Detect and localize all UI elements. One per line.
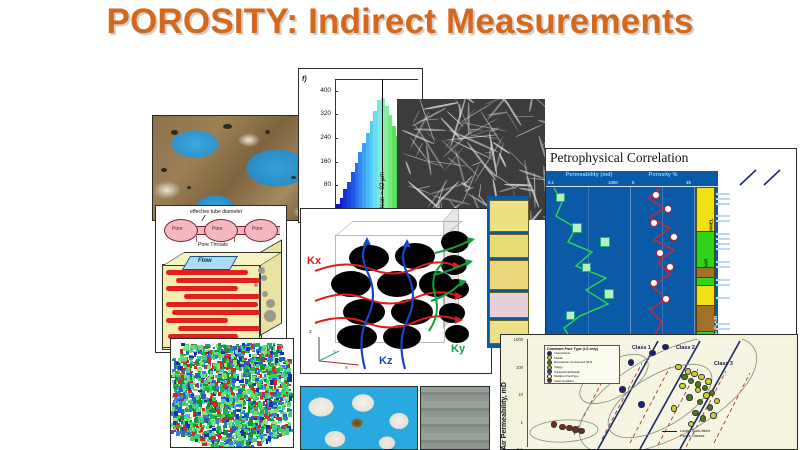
- histogram-y-tick-mark: [335, 162, 338, 163]
- crossplot-legend: Dominant Pore Type (LS only) Interpartic…: [544, 345, 620, 384]
- voxel-cell: [280, 368, 283, 372]
- voxel-cell: [279, 410, 283, 413]
- crossplot-point: [675, 364, 681, 370]
- track-scale-min-permeability: 0.1: [548, 180, 554, 185]
- voxel-cell: [211, 433, 215, 436]
- kz-label: Kz: [379, 355, 392, 367]
- voxel-cell: [190, 383, 193, 387]
- voxel-cell: [211, 377, 213, 379]
- voxel-cell: [201, 427, 203, 432]
- crossplot-point: [692, 410, 698, 416]
- voxel-cell: [277, 346, 281, 350]
- crossplot-point: [695, 381, 701, 387]
- crossplot-point: [671, 405, 677, 411]
- core-photograph-image: [420, 386, 490, 450]
- voxel-cell: [265, 416, 270, 419]
- voxel-cell: [261, 428, 264, 432]
- crossplot-class-label-2: Class 2: [676, 345, 695, 351]
- voxel-cell: [218, 436, 221, 440]
- crossplot-point: [700, 415, 706, 421]
- voxel-cell: [212, 421, 215, 425]
- voxel-cell: [263, 345, 267, 347]
- voxel-cell: [282, 432, 286, 437]
- voxel-cell: [176, 375, 180, 377]
- voxel-cell: [176, 425, 180, 428]
- voxel-cell: [218, 378, 223, 381]
- voxel-cell: [272, 374, 277, 378]
- voxel-cell: [224, 374, 227, 379]
- voxel-cell: [185, 421, 188, 424]
- voxel-cell: [200, 437, 205, 441]
- voxel-cell: [287, 377, 292, 382]
- digital-rock-voxel-cube-image: [170, 338, 294, 448]
- voxel-cell: [214, 391, 218, 394]
- histogram-mean-label: Mean = 92 µm: [379, 172, 386, 212]
- voxel-cell: [270, 363, 273, 367]
- voxel-cell: [232, 426, 235, 431]
- voxel-cell: [175, 405, 178, 409]
- voxel-cell: [190, 422, 193, 426]
- voxel-cell: [230, 405, 233, 408]
- voxel-cell: [273, 402, 277, 405]
- voxel-cell: [186, 370, 190, 372]
- histogram-y-tick-mark: [335, 138, 338, 139]
- voxel-cell: [212, 397, 216, 402]
- sem-fiber: [465, 99, 474, 104]
- voxel-cell: [217, 366, 220, 369]
- voxel-cell: [206, 346, 209, 348]
- voxel-cell: [243, 407, 246, 409]
- voxel-cell: [239, 380, 244, 384]
- voxel-cell: [273, 434, 277, 437]
- voxel-cell: [179, 393, 183, 395]
- voxel-cell: [256, 364, 259, 368]
- crossplot-point: [638, 401, 644, 407]
- legend-item-label: Intercrystalline: [554, 379, 574, 383]
- voxel-cell: [217, 372, 222, 374]
- crossplot-class-label-3: Class 3: [714, 361, 733, 367]
- voxel-cell: [227, 433, 231, 438]
- voxel-cell: [184, 345, 188, 349]
- voxel-cell: [204, 434, 208, 437]
- voxel-cell: [195, 373, 200, 378]
- voxel-cell: [210, 405, 213, 407]
- well-log-body: Permeability (md) 0.1 1000 Porosity % 5 …: [546, 171, 718, 343]
- histogram-y-tick-mark: [335, 91, 338, 92]
- voxel-cell: [265, 409, 267, 413]
- voxel-cell: [195, 361, 199, 365]
- voxel-cell: [208, 364, 211, 369]
- voxel-cell: [194, 366, 197, 369]
- voxel-cell: [272, 389, 275, 391]
- crossplot-point: [691, 371, 697, 377]
- kx-label: Kx: [307, 255, 321, 267]
- voxel-cell: [254, 407, 258, 411]
- voxel-cell: [192, 398, 195, 401]
- sem-fiber: [498, 153, 507, 168]
- crossplot-y-tick-label: 10: [507, 392, 523, 397]
- voxel-cell: [278, 379, 281, 383]
- histogram-y-tick-label: 240: [303, 134, 331, 141]
- crossplot-point: [705, 378, 711, 384]
- voxel-cell: [174, 427, 176, 430]
- voxel-cell: [181, 359, 185, 362]
- voxel-cell: [259, 369, 261, 372]
- crossplot-y-tick-label: 1000: [507, 337, 523, 342]
- voxel-cell: [251, 361, 254, 363]
- voxel-cell: [195, 430, 197, 433]
- voxel-cell: [270, 392, 275, 395]
- voxel-cell: [216, 409, 220, 412]
- voxel-cell: [233, 360, 236, 365]
- voxel-cell: [216, 419, 219, 424]
- porosity-curve-svg: [630, 186, 694, 343]
- voxel-cell: [231, 368, 235, 372]
- voxel-cell: [221, 399, 226, 404]
- voxel-cell: [237, 409, 241, 412]
- voxel-cell: [288, 359, 292, 362]
- voxel-cell: [215, 443, 218, 448]
- voxel-cell: [239, 446, 242, 448]
- voxel-cell: [187, 399, 189, 402]
- voxel-cell: [275, 358, 279, 362]
- legend-item-label: Vuggy: [554, 365, 563, 369]
- voxel-cell: [198, 345, 202, 350]
- voxel-cell: [263, 351, 266, 353]
- voxel-cell: [181, 434, 185, 437]
- voxel-cell: [186, 351, 189, 355]
- voxel-cell: [222, 396, 225, 399]
- voxel-cell: [251, 403, 253, 405]
- ky-label: Ky: [451, 343, 465, 355]
- voxel-cell: [246, 442, 249, 445]
- legend-color-swatch: [547, 378, 552, 383]
- voxel-cell: [221, 432, 224, 435]
- crossplot-y-tick-label: 1: [507, 420, 523, 425]
- crossplot-point: [619, 386, 625, 392]
- track-scale-max-permeability: 1000: [608, 180, 618, 185]
- voxel-cell: [266, 384, 268, 388]
- voxel-cell: [278, 417, 282, 419]
- crossplot-y-tick-label: 100: [507, 365, 523, 370]
- axis-z-label: z: [309, 329, 312, 335]
- voxel-cell: [227, 363, 231, 367]
- voxel-cell: [200, 384, 203, 387]
- legend-item-label: Multiple PoreType: [554, 374, 579, 378]
- voxel-cell: [287, 405, 291, 408]
- voxel-cell: [173, 421, 176, 425]
- voxel-cell: [278, 421, 281, 423]
- voxel-cell: [240, 384, 244, 386]
- track-scale-max-porosity: 35: [686, 180, 691, 185]
- voxel-cell: [255, 392, 258, 395]
- axis-triad-svg: [309, 327, 369, 371]
- voxel-cell: [245, 369, 249, 372]
- voxel-cell: [213, 356, 215, 360]
- voxel-cell: [196, 395, 198, 400]
- histogram-y-tick-mark: [335, 185, 338, 186]
- legend-item-label: Interparticle: [554, 351, 570, 355]
- voxel-cell: [219, 354, 224, 358]
- voxel-cell: [270, 380, 275, 385]
- voxel-cell: [280, 397, 283, 400]
- axis-y-label: y: [333, 349, 336, 355]
- voxel-cell: [254, 411, 257, 413]
- voxel-cell: [273, 350, 277, 352]
- voxel-cell: [261, 357, 265, 359]
- voxel-cell: [200, 360, 202, 364]
- voxel-cell: [269, 354, 272, 357]
- voxel-cell: [220, 443, 223, 445]
- voxel-cell: [200, 419, 202, 424]
- pore-label-3: Pore: [252, 226, 263, 232]
- voxel-cell: [187, 433, 190, 435]
- voxel-cell: [201, 374, 205, 379]
- pore-label-2: Pore: [212, 226, 223, 232]
- voxel-cell: [256, 343, 259, 347]
- voxel-cell: [248, 421, 253, 425]
- voxel-cell: [238, 404, 242, 407]
- voxel-cell: [260, 364, 265, 368]
- voxel-cell: [241, 420, 245, 423]
- sem-fiber: [530, 211, 531, 220]
- voxel-cell: [206, 409, 209, 413]
- panel-letter-f: f): [302, 76, 307, 83]
- voxel-cell: [217, 361, 220, 364]
- voxel-cell: [211, 439, 213, 442]
- voxel-cell: [192, 364, 195, 367]
- voxel-cell: [282, 383, 285, 387]
- crossplot-point: [686, 394, 692, 400]
- legend-item-label: Moldic: [554, 356, 563, 360]
- voxel-cell: [183, 395, 186, 399]
- voxel-cell: [208, 382, 210, 384]
- correlation-tie-lines-svg: [736, 169, 797, 187]
- voxel-cell: [223, 417, 227, 420]
- voxel-cell: [242, 353, 244, 356]
- voxel-cell: [256, 426, 259, 430]
- voxel-cell: [225, 354, 229, 356]
- voxel-cell: [253, 395, 256, 399]
- voxel-cell: [288, 392, 291, 394]
- voxel-cell: [229, 397, 233, 401]
- voxel-cell: [212, 386, 215, 390]
- voxel-cell: [217, 381, 219, 383]
- voxel-cell: [227, 359, 230, 363]
- pore-throat-tube-bundle-diagram: effective tube diameter Pore Pore Pore P…: [155, 205, 287, 353]
- voxel-cell: [209, 399, 211, 401]
- voxel-cell: [246, 390, 248, 393]
- voxel-cell: [248, 382, 252, 385]
- voxel-cell: [261, 359, 265, 362]
- crossplot-class-label-1: Class 1: [632, 345, 651, 351]
- petrophysical-correlation-title: Petrophysical Correlation: [550, 150, 688, 166]
- voxel-cell: [232, 378, 236, 383]
- voxel-cell: [217, 426, 220, 430]
- track-header-porosity: Porosity %: [632, 172, 694, 178]
- stratigraphic-column: [487, 196, 529, 348]
- voxel-cell: [173, 393, 178, 397]
- voxel-cell: [238, 387, 241, 389]
- pore-label-1: Pore: [172, 226, 183, 232]
- histogram-y-tick-mark: [335, 114, 338, 115]
- voxel-cell: [252, 388, 254, 391]
- voxel-cell: [213, 439, 218, 442]
- voxel-cell: [287, 368, 291, 372]
- voxel-cell: [182, 430, 185, 434]
- voxel-cell: [176, 431, 180, 436]
- voxel-cell: [249, 385, 254, 388]
- voxel-cell: [202, 355, 207, 360]
- voxel-cell: [176, 398, 179, 402]
- voxel-cell: [191, 394, 194, 397]
- crossplot-point: [559, 424, 565, 430]
- voxel-cell: [202, 365, 204, 367]
- voxel-cell: [268, 436, 271, 441]
- voxel-cell: [264, 384, 267, 387]
- voxel-cell: [229, 441, 232, 445]
- voxel-cell: [268, 395, 271, 398]
- voxel-cell: [201, 394, 206, 398]
- voxel-cell: [220, 388, 224, 391]
- voxel-cell: [260, 435, 263, 439]
- voxel-cell: [267, 371, 271, 375]
- voxel-cell: [208, 357, 211, 360]
- voxel-cell: [195, 384, 198, 387]
- voxel-cell: [223, 410, 227, 415]
- voxel-cell: [279, 392, 282, 396]
- voxel-cell: [179, 419, 181, 422]
- crossplot-point: [662, 344, 668, 350]
- legend-item-label: Dissolution Connected NFS: [554, 360, 592, 364]
- voxel-cell: [243, 374, 246, 378]
- voxel-cell: [205, 387, 210, 391]
- voxel-cell: [281, 426, 283, 429]
- crossplot-point: [551, 421, 557, 427]
- voxel-cell: [190, 436, 195, 441]
- voxel-cell: [274, 385, 277, 389]
- voxel-cell: [273, 430, 276, 432]
- voxel-cell: [194, 352, 196, 355]
- voxel-cell: [275, 368, 279, 371]
- histogram-y-tick-label: 160: [303, 158, 331, 165]
- voxel-cell: [227, 379, 230, 383]
- voxel-cell: [246, 414, 249, 417]
- voxel-cell: [175, 371, 179, 374]
- voxel-cell: [262, 377, 267, 379]
- voxel-cell: [197, 400, 202, 404]
- voxel-cell: [241, 394, 243, 396]
- voxel-cell: [196, 409, 201, 413]
- voxel-cell: [260, 417, 265, 420]
- flow-label: Flow: [198, 258, 212, 264]
- voxel-cell: [240, 362, 244, 364]
- voxel-cell: [223, 345, 226, 348]
- lucia-note-line-2: Facies Classes: [680, 434, 704, 438]
- voxel-cell: [189, 356, 193, 358]
- sem-fiber: [538, 135, 545, 165]
- voxel-cell: [181, 354, 186, 356]
- voxel-cell: [265, 421, 268, 424]
- voxel-cell: [281, 373, 284, 377]
- crossplot-point: [681, 374, 687, 380]
- voxel-cell: [210, 415, 214, 419]
- sem-fiber: [528, 99, 533, 112]
- voxel-cell: [182, 401, 186, 406]
- voxel-cell: [251, 396, 253, 399]
- voxel-cell: [258, 402, 260, 407]
- voxel-cell: [181, 343, 185, 346]
- track-header-permeability: Permeability (md): [548, 172, 630, 178]
- voxel-cell: [251, 416, 254, 420]
- voxel-cell: [280, 357, 285, 361]
- voxel-cell: [208, 347, 210, 351]
- voxel-cell: [236, 423, 240, 427]
- voxel-cell: [223, 425, 227, 428]
- voxel-cell: [173, 384, 176, 387]
- voxel-cell: [260, 396, 263, 399]
- crossplot-point: [679, 383, 685, 389]
- voxel-cell: [286, 428, 289, 432]
- voxel-cell: [263, 401, 265, 405]
- voxel-cell: [230, 351, 233, 353]
- slide-canvas: POROSITY: Indirect Measurements effectiv…: [0, 0, 800, 450]
- voxel-cell: [251, 367, 255, 371]
- voxel-cell: [229, 446, 233, 448]
- voxel-cell: [236, 414, 239, 419]
- voxel-cell: [186, 386, 188, 391]
- voxel-cell: [280, 352, 284, 356]
- voxel-cell: [207, 425, 210, 430]
- voxel-cell: [283, 417, 288, 420]
- voxel-cell: [234, 346, 237, 350]
- tube-bundle-block: Flow: [162, 252, 282, 348]
- pore-throats-label: Pore Throats: [198, 242, 228, 248]
- voxel-cell: [204, 350, 208, 352]
- voxel-cell: [203, 415, 208, 418]
- voxel-cell: [184, 375, 188, 378]
- voxel-cell: [211, 444, 214, 448]
- voxel-cell: [289, 411, 292, 414]
- voxel-cell: [207, 443, 210, 446]
- voxel-cell: [246, 347, 250, 350]
- voxel-cell: [187, 430, 190, 432]
- voxel-cell: [208, 400, 210, 404]
- voxel-cell: [220, 404, 224, 408]
- voxel-cell: [243, 367, 246, 372]
- voxel-cell: [215, 350, 219, 352]
- petrophysical-correlation-panel: Petrophysical Correlation Permeability (…: [545, 148, 797, 348]
- voxel-cell: [228, 447, 231, 448]
- voxel-cell: [237, 354, 241, 357]
- voxel-cell: [190, 348, 193, 351]
- voxel-cell: [249, 432, 253, 437]
- voxel-cell: [180, 349, 183, 353]
- voxel-cell: [243, 446, 245, 448]
- crossplot-point: [710, 412, 716, 418]
- voxel-cell: [278, 386, 280, 388]
- voxel-cell: [181, 421, 183, 425]
- voxel-cell: [224, 348, 229, 352]
- voxel-cell: [174, 411, 178, 416]
- permeability-anisotropy-cube-diagram: Kx Ky Kz z y x: [300, 208, 492, 374]
- voxel-cell: [269, 343, 272, 346]
- voxel-cell: [249, 377, 251, 379]
- voxel-cell: [280, 402, 284, 404]
- voxel-cell: [182, 384, 186, 389]
- voxel-cell: [272, 413, 277, 416]
- voxel-cell: [241, 346, 243, 349]
